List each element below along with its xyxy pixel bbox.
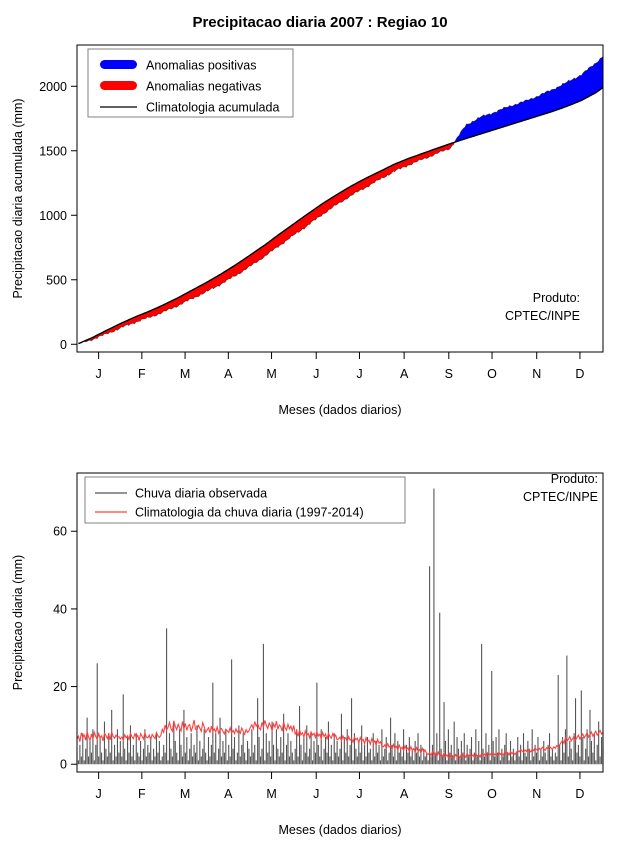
x-axis-tick-label: F <box>138 367 146 381</box>
x-axis-tick-label: D <box>575 787 584 801</box>
legend-label: Chuva diaria observada <box>135 487 267 501</box>
x-axis-label: Meses (dados diarios) <box>279 403 402 417</box>
y-axis-tick-label: 1000 <box>39 209 67 223</box>
y-axis-label: Precipitacao diaria (mm) <box>11 555 25 690</box>
x-axis-tick-label: J <box>356 367 362 381</box>
legend-label: Climatologia da chuva diaria (1997-2014) <box>135 506 364 520</box>
figure-root: Precipitacao diaria 2007 : Regiao 100500… <box>0 0 640 850</box>
x-axis-tick-label: J <box>356 787 362 801</box>
x-axis-tick-label: A <box>224 787 233 801</box>
legend-label: Climatologia acumulada <box>146 101 279 115</box>
accumulated-chart-svg: Precipitacao diaria 2007 : Regiao 100500… <box>0 0 640 425</box>
x-axis-tick-label: O <box>487 367 497 381</box>
producer-label-line1: Produto: <box>533 291 580 305</box>
x-axis-tick-label: A <box>400 787 409 801</box>
x-axis-tick-label: F <box>138 787 146 801</box>
positive-anomaly-area <box>455 57 603 143</box>
daily-chart-svg: 0204060JFMAMJJASONDMeses (dados diarios)… <box>0 425 640 850</box>
legend-label: Anomalias positivas <box>146 59 256 73</box>
accumulated-precipitation-panel: Precipitacao diaria 2007 : Regiao 100500… <box>0 0 640 425</box>
producer-label-line1: Produto: <box>551 472 598 486</box>
y-axis-tick-label: 0 <box>60 338 67 352</box>
y-axis-tick-label: 0 <box>60 758 67 772</box>
negative-anomaly-area <box>78 141 455 343</box>
x-axis-tick-label: J <box>313 367 319 381</box>
x-axis-tick-label: A <box>400 367 409 381</box>
producer-label-line2: CPTEC/INPE <box>505 309 580 323</box>
x-axis-tick-label: A <box>224 367 233 381</box>
y-axis-label: Precipitacao diaria acumulada (mm) <box>11 98 25 298</box>
y-axis-tick-label: 20 <box>53 680 67 694</box>
x-axis-tick-label: N <box>532 367 541 381</box>
legend-swatch-positive <box>100 60 137 69</box>
y-axis-tick-label: 2000 <box>39 80 67 94</box>
x-axis-tick-label: D <box>575 367 584 381</box>
x-axis-tick-label: J <box>95 367 101 381</box>
y-axis-tick-label: 60 <box>53 525 67 539</box>
x-axis-tick-label: O <box>487 787 497 801</box>
legend-label: Anomalias negativas <box>146 80 261 94</box>
legend-swatch-negative <box>100 81 137 90</box>
x-axis-tick-label: M <box>180 787 190 801</box>
daily-precipitation-panel: 0204060JFMAMJJASONDMeses (dados diarios)… <box>0 425 640 850</box>
y-axis-tick-label: 40 <box>53 602 67 616</box>
x-axis-tick-label: M <box>180 367 190 381</box>
x-axis-tick-label: M <box>266 367 276 381</box>
x-axis-tick-label: S <box>445 787 453 801</box>
y-axis-tick-label: 1500 <box>39 144 67 158</box>
y-axis-tick-label: 500 <box>46 273 67 287</box>
producer-label-line2: CPTEC/INPE <box>523 490 598 504</box>
x-axis-tick-label: S <box>445 367 453 381</box>
chart-title: Precipitacao diaria 2007 : Regiao 10 <box>192 14 447 31</box>
x-axis-tick-label: M <box>266 787 276 801</box>
x-axis-tick-label: N <box>532 787 541 801</box>
observed-daily-bars <box>77 489 603 765</box>
x-axis-label: Meses (dados diarios) <box>279 823 402 837</box>
x-axis-tick-label: J <box>95 787 101 801</box>
x-axis-tick-label: J <box>313 787 319 801</box>
climatology-accumulated-line <box>78 88 603 344</box>
